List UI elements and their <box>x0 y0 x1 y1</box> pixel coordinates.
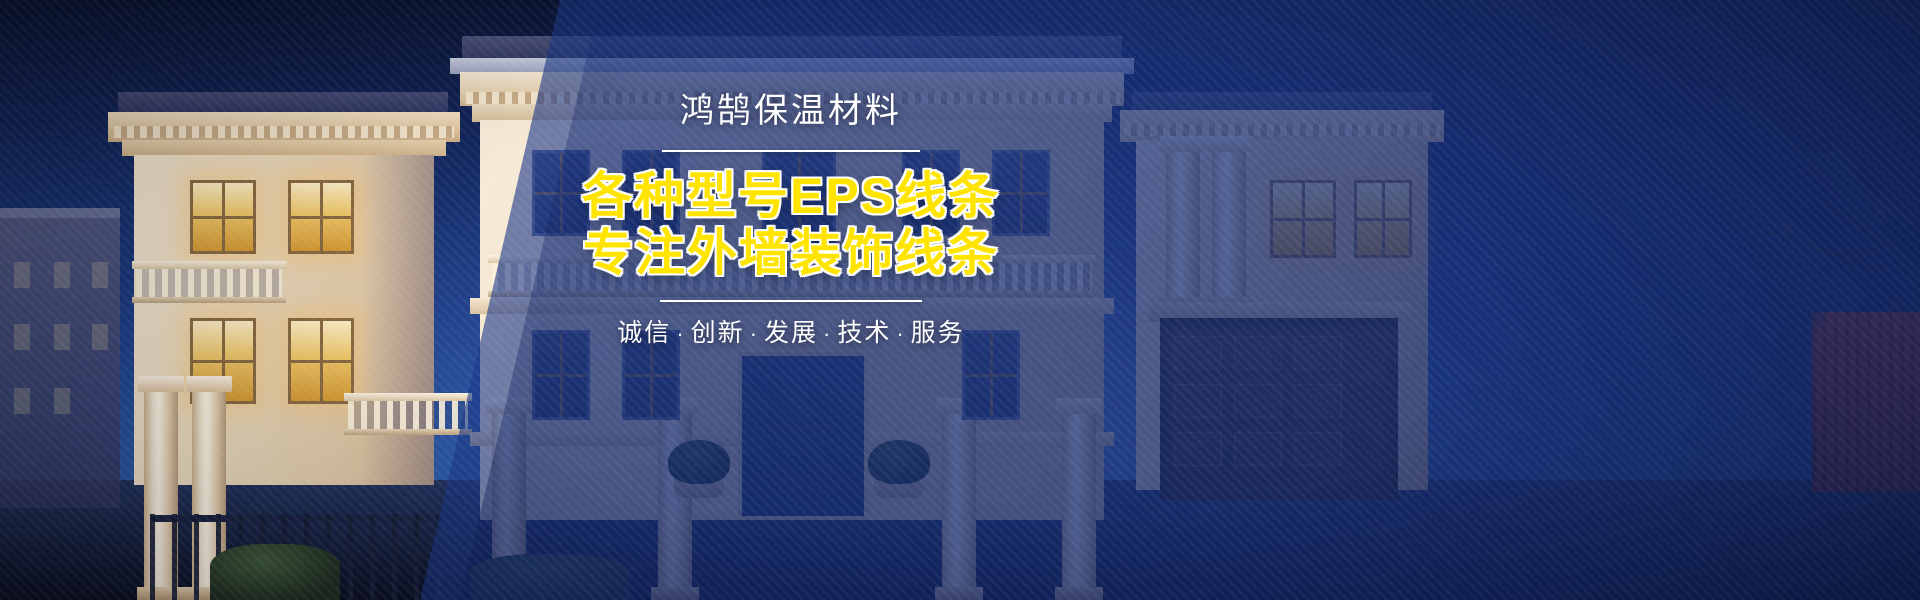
tagline-separator: · <box>671 321 690 346</box>
headline-line-2: 专注外墙装饰线条 <box>556 225 1026 282</box>
window-lit <box>288 180 354 254</box>
left-wing-shadow <box>362 155 434 485</box>
tagline-item: 发展 <box>764 319 818 347</box>
foreground-hedge <box>210 544 340 600</box>
far-window <box>14 262 30 288</box>
tagline-separator: · <box>891 321 910 346</box>
tagline-separator: · <box>745 321 764 346</box>
headline-group: 各种型号EPS线条 专注外墙装饰线条 <box>556 168 1026 282</box>
banner-copy-block: 鸿鹄保温材料 各种型号EPS线条 专注外墙装饰线条 诚信·创新·发展·技术·服务 <box>556 92 1026 348</box>
divider-top <box>662 150 920 152</box>
tagline-item: 服务 <box>911 319 965 347</box>
divider-bottom <box>660 300 922 302</box>
terrace-balustrade <box>348 400 468 430</box>
left-wing-roof <box>118 92 448 114</box>
brand-name: 鸿鹄保温材料 <box>556 92 1026 131</box>
tagline: 诚信·创新·发展·技术·服务 <box>556 318 1026 348</box>
headline-line-1: 各种型号EPS线条 <box>556 168 1026 225</box>
window-lit <box>288 318 354 404</box>
far-window <box>14 388 30 414</box>
tagline-item: 创新 <box>691 319 745 347</box>
hero-banner: 鸿鹄保温材料 各种型号EPS线条 专注外墙装饰线条 诚信·创新·发展·技术·服务 <box>0 0 1920 600</box>
tagline-item: 技术 <box>837 319 891 347</box>
tagline-separator: · <box>818 321 837 346</box>
window-lit <box>190 180 256 254</box>
left-wing-dentil-trim <box>114 126 454 138</box>
far-window <box>14 324 30 350</box>
tagline-item: 诚信 <box>617 319 671 347</box>
balcony-balustrade <box>136 268 282 298</box>
left-wing-band <box>122 140 446 156</box>
